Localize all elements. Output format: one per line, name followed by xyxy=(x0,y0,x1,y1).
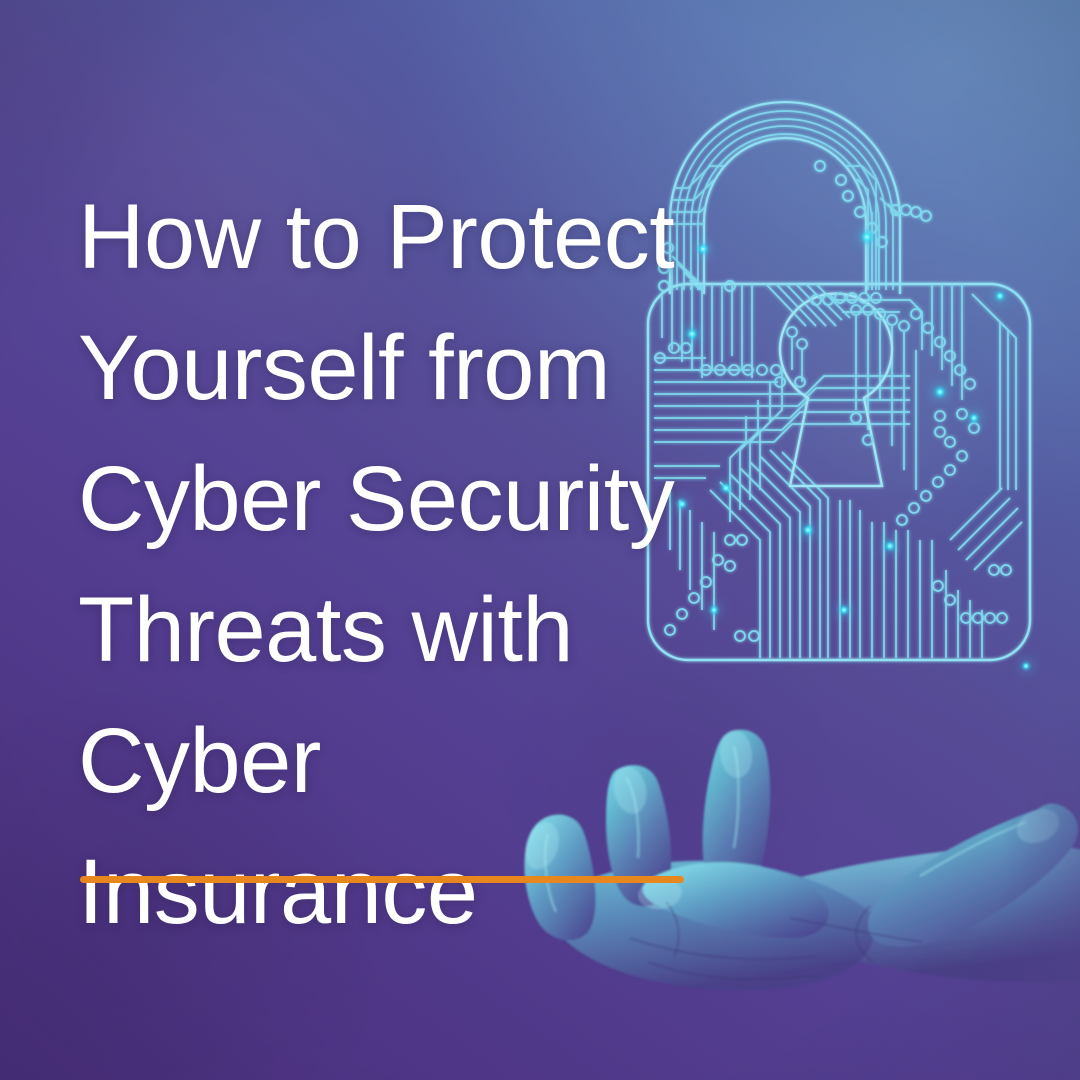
orange-divider xyxy=(80,876,684,883)
page-title: How to Protect Yourself from Cyber Secur… xyxy=(78,172,718,958)
social-card: How to Protect Yourself from Cyber Secur… xyxy=(0,0,1080,1080)
keyhole xyxy=(780,294,892,486)
glow-nodes xyxy=(675,229,1032,673)
